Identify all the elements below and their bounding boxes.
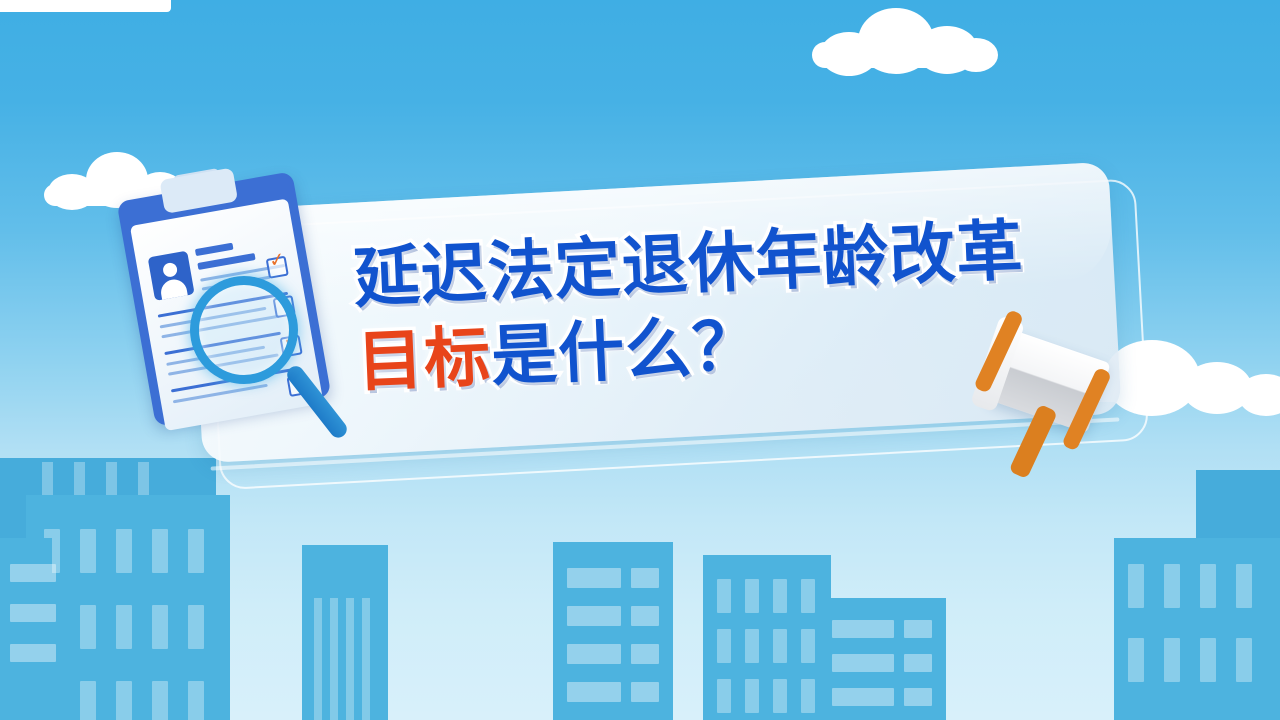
magnifier-handle (284, 363, 350, 441)
megaphone-handle (1009, 404, 1058, 480)
person-avatar-icon (148, 251, 195, 301)
doc-line (197, 253, 255, 270)
avatar-head (162, 262, 178, 278)
avatar-body (159, 277, 188, 300)
building (26, 495, 230, 720)
cloud-icon (812, 8, 994, 68)
doc-line (195, 243, 234, 256)
building (703, 555, 831, 720)
check-icon: ✓ (268, 250, 287, 271)
cloud-puff (954, 38, 998, 72)
cloud-puff (1238, 374, 1280, 416)
building (302, 545, 388, 720)
cloud-puff (48, 174, 96, 210)
cloud-puff (820, 32, 878, 76)
headline-rest: 是什么？ (490, 308, 761, 393)
magnifying-glass-icon (190, 276, 360, 456)
building (553, 542, 673, 720)
top-white-strip (0, 0, 171, 12)
headline-accent: 目标 (356, 319, 493, 399)
building (820, 598, 946, 720)
building (0, 538, 52, 720)
page-title: 延迟法定退休年龄改革 目标是什么？ (352, 206, 1078, 404)
building (1114, 538, 1280, 720)
poster-canvas: ✓ ✓ 延迟法定退休年龄改革 目标是什么？ (0, 0, 1280, 720)
magnifier-lens (190, 276, 298, 384)
